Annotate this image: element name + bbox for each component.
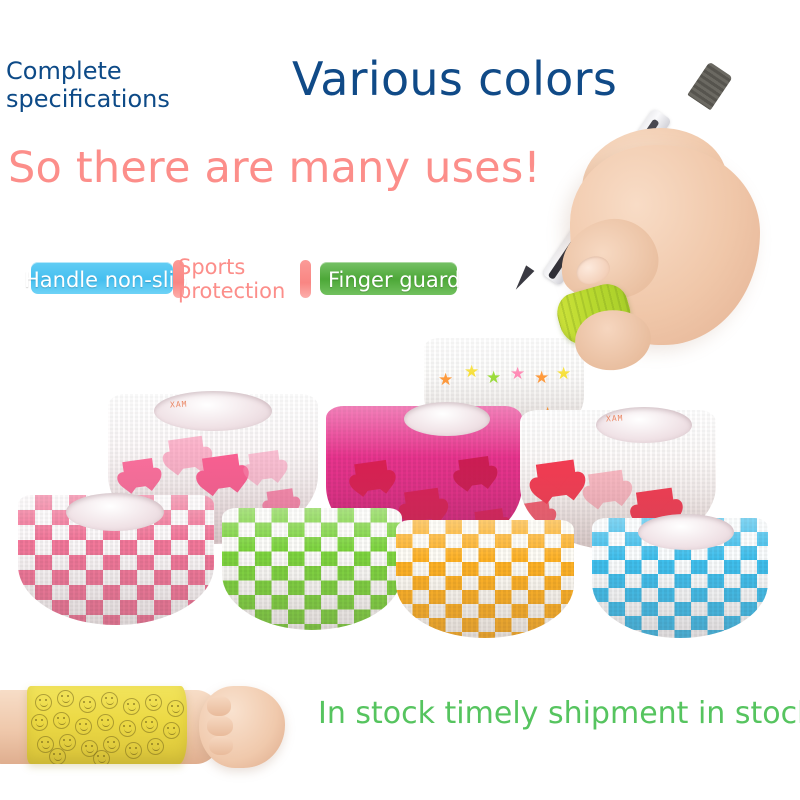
- tape-roll-group: ★ ★ ★ ★ ★ ★ ★ ★ ★ ★: [0, 330, 800, 660]
- arm-tape-yellow-smiley: [27, 686, 187, 764]
- tape-roll-pink-check: [18, 495, 214, 625]
- photo-arm-with-tape: [0, 668, 314, 793]
- roll-core: [154, 391, 272, 431]
- product-banner: ★ ★ ★ ★ ★ ★ ★ ★ ★ ★: [0, 0, 800, 800]
- core-print-label: XAM: [170, 400, 188, 410]
- tape-roll-blue-check: [592, 518, 768, 638]
- subtitle: So there are many uses!: [8, 145, 541, 191]
- photo-hand-holding-pen: [520, 70, 800, 360]
- fist: [199, 686, 285, 768]
- core-print-label: XAM: [606, 414, 624, 424]
- page-title: Various colors: [292, 55, 617, 105]
- tape-roll-orange-check: [396, 520, 574, 638]
- spec-note: Complete specifications: [6, 58, 236, 113]
- pen-cap: [687, 62, 733, 111]
- badge-accent-bar: [300, 260, 311, 298]
- feature-badge-row: Handle non-slip Sports protection Finger…: [0, 252, 520, 310]
- badge-label-finger-guard: Finger guard: [328, 268, 460, 292]
- tape-roll-green-check: [222, 508, 402, 630]
- badge-label-sports-protection: Sports protection: [178, 256, 285, 303]
- badge-label-handle-non-slip: Handle non-slip: [24, 268, 188, 292]
- footer-tagline: In stock timely shipment in stock: [318, 698, 800, 730]
